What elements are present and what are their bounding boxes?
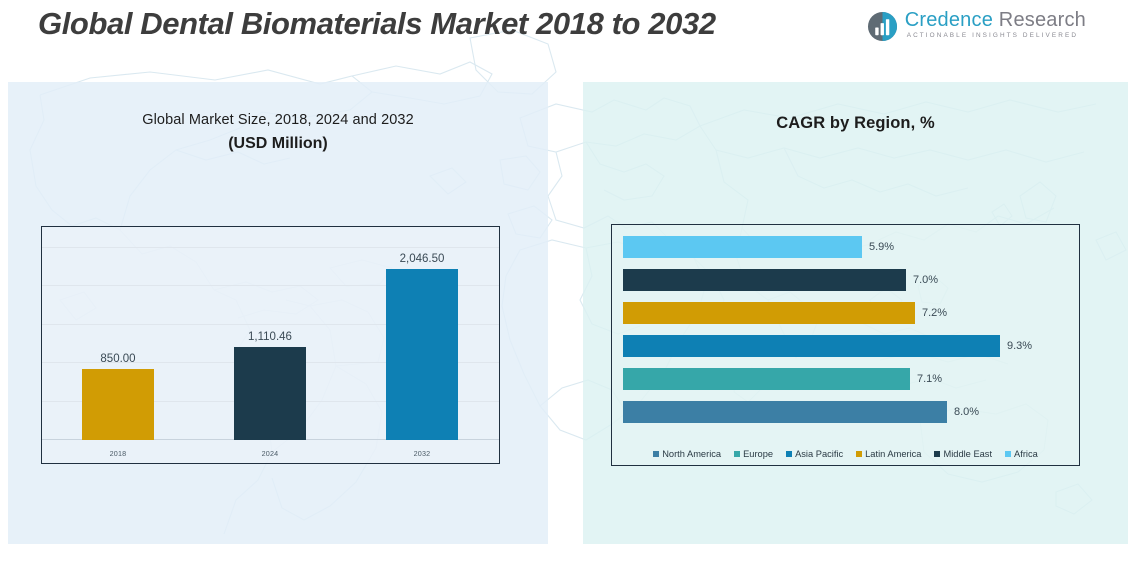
legend-swatch-icon <box>1005 451 1011 457</box>
brand-logo: Credence Research Actionable Insights De… <box>867 10 1086 42</box>
left-heading-line1: Global Market Size, 2018, 2024 and 2032 <box>8 112 548 128</box>
legend-swatch-icon <box>934 451 940 457</box>
brand-name-secondary: Research <box>999 9 1086 31</box>
bar-value-label: 7.1% <box>917 373 942 385</box>
legend-item-north-america[interactable]: North America <box>653 449 721 459</box>
infographic-canvas: Global Dental Biomaterials Market 2018 t… <box>0 0 1136 565</box>
legend-label: Latin America <box>865 449 921 459</box>
left-panel-heading: Global Market Size, 2018, 2024 and 2032 … <box>8 112 548 153</box>
bar-value-label: 1,110.46 <box>210 331 330 343</box>
bar-latin-america <box>623 302 915 324</box>
legend-swatch-icon <box>856 451 862 457</box>
x-axis-tick-label: 2032 <box>362 449 482 458</box>
bar-2018 <box>82 369 154 440</box>
bar-value-label: 9.3% <box>1007 340 1032 352</box>
market-size-bar-chart: 850.0020181,110.4620242,046.502032 <box>41 226 500 464</box>
bar-value-label: 7.2% <box>922 307 947 319</box>
legend-item-asia-pacific[interactable]: Asia Pacific <box>786 449 843 459</box>
bar-asia-pacific <box>623 335 1000 357</box>
bar-europe <box>623 368 910 390</box>
grid-line <box>42 247 499 248</box>
bar-chart-circle-logo-icon <box>867 11 898 42</box>
left-heading-line2: (USD Million) <box>8 135 548 153</box>
bar-africa <box>623 236 862 258</box>
legend-item-latin-america[interactable]: Latin America <box>856 449 921 459</box>
bar-value-label: 7.0% <box>913 274 938 286</box>
legend-swatch-icon <box>786 451 792 457</box>
x-axis-tick-label: 2024 <box>210 449 330 458</box>
bar-2032 <box>386 269 458 440</box>
cagr-by-region-bar-chart: North AmericaEuropeAsia PacificLatin Ame… <box>611 224 1080 466</box>
legend-label: Africa <box>1014 449 1038 459</box>
legend-swatch-icon <box>653 451 659 457</box>
page-title: Global Dental Biomaterials Market 2018 t… <box>38 6 716 42</box>
right-heading: CAGR by Region, % <box>583 114 1128 133</box>
right-panel-heading: CAGR by Region, % <box>583 114 1128 133</box>
legend-item-africa[interactable]: Africa <box>1005 449 1038 459</box>
legend-label: Middle East <box>943 449 992 459</box>
brand-tagline: Actionable Insights Delivered <box>907 33 1086 39</box>
chart-legend: North AmericaEuropeAsia PacificLatin Ame… <box>612 449 1079 459</box>
bar-middle-east <box>623 269 906 291</box>
legend-label: North America <box>662 449 721 459</box>
bar-value-label: 2,046.50 <box>362 253 482 265</box>
legend-label: Europe <box>743 449 773 459</box>
legend-swatch-icon <box>734 451 740 457</box>
bar-north-america <box>623 401 947 423</box>
bar-value-label: 5.9% <box>869 241 894 253</box>
bar-value-label: 8.0% <box>954 406 979 418</box>
legend-item-europe[interactable]: Europe <box>734 449 773 459</box>
bar-2024 <box>234 347 306 440</box>
brand-name-primary: Credence <box>905 9 993 31</box>
legend-item-middle-east[interactable]: Middle East <box>934 449 992 459</box>
header: Global Dental Biomaterials Market 2018 t… <box>0 0 1136 62</box>
x-axis-tick-label: 2018 <box>58 449 178 458</box>
legend-label: Asia Pacific <box>795 449 843 459</box>
bar-value-label: 850.00 <box>58 353 178 365</box>
brand-name: Credence Research <box>905 10 1086 30</box>
